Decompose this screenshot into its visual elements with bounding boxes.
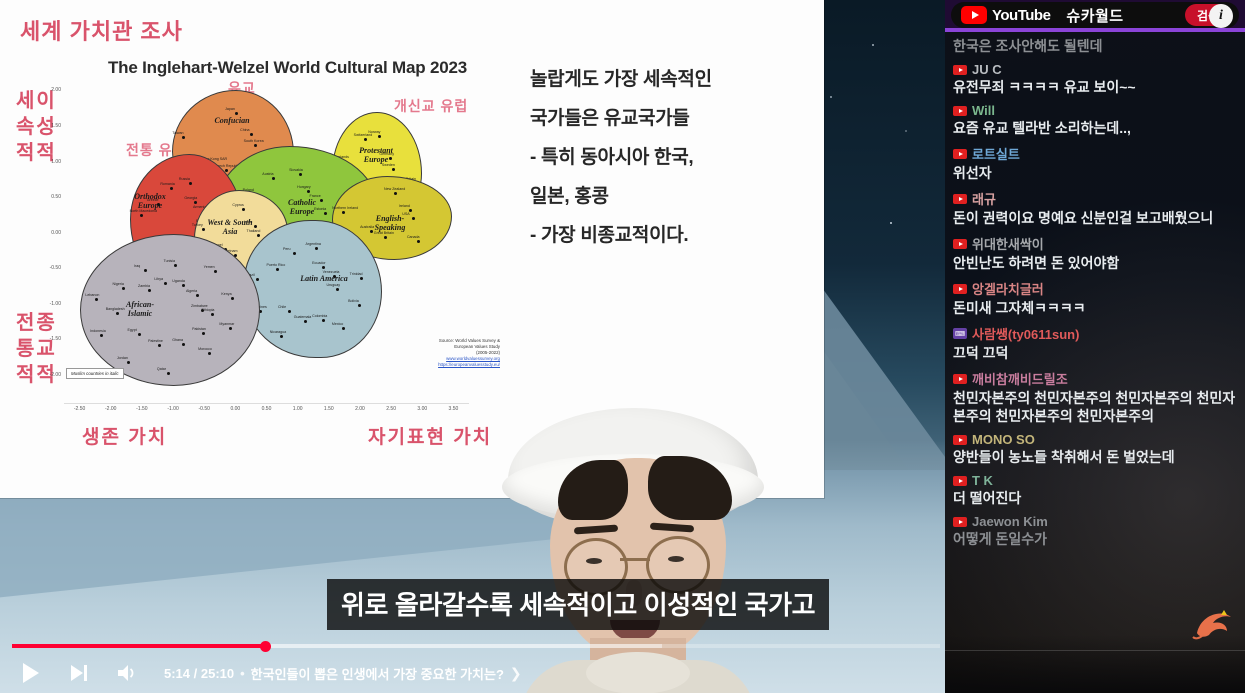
country-dot — [280, 335, 283, 338]
country-dot — [320, 199, 323, 202]
country-label: Hungary — [297, 185, 311, 189]
country-label: USA — [402, 212, 409, 216]
country-dot — [148, 289, 151, 292]
commentary-line: 놀랍게도 가장 세속적인 — [530, 60, 800, 99]
live-chat-sidebar[interactable]: YouTube 슈카월드 검색 i 한국은 조사안해도 될텐데JU C유전무죄 … — [945, 0, 1245, 693]
x-tick: 0.50 — [262, 406, 272, 412]
chat-message[interactable]: JU C유전무죄 ㅋㅋㅋㅋ 유교 보이~~ — [953, 62, 1237, 96]
chevron-right-icon[interactable]: ❯ — [510, 665, 522, 682]
country-label: South Korea — [244, 139, 264, 143]
country-label: Algeria — [186, 289, 197, 293]
commentary-line: 일본, 홍콩 — [530, 177, 800, 216]
chat-header-pill: YouTube 슈카월드 검색 i — [951, 2, 1239, 28]
chat-message[interactable]: ⌨사람쌩(ty0611sun)끄덕 끄덕 — [953, 324, 1237, 362]
chat-message[interactable]: Jaewon Kim어떻게 돈일수가 — [953, 514, 1237, 548]
country-dot — [360, 277, 363, 280]
x-axis-line — [64, 403, 469, 404]
country-label: Nigeria — [112, 282, 123, 286]
youtube-badge-icon — [953, 284, 967, 294]
chat-message-text: 끄덕 끄덕 — [953, 344, 1237, 362]
country-label: Pakistan — [192, 327, 206, 331]
country-dot — [138, 333, 141, 336]
chat-message-text: 요즘 유교 텔라반 소리하는데.., — [953, 119, 1237, 137]
country-label: Canada — [407, 235, 420, 239]
x-axis-label-survival: 생존 가치 — [82, 422, 167, 449]
country-dot — [189, 182, 192, 185]
cluster-label: Protestant Europe — [350, 146, 402, 164]
country-dot — [208, 352, 211, 355]
chat-author-name: 위대한새싹이 — [972, 234, 1044, 253]
country-label: Kenya — [221, 292, 231, 296]
chat-message[interactable]: 깨비참깨비드릴조천민자본주의 천민자본주의 천민자본주의 천민자본주의 천민자본… — [953, 369, 1237, 425]
time-and-title: 5:14 / 25:10 • 한국인들이 뽑은 인생에서 가장 중요한 가치는?… — [164, 664, 522, 683]
chat-author-name: MONO SO — [972, 432, 1035, 447]
country-label: Guatemala — [294, 315, 312, 319]
video-title[interactable]: 한국인들이 뽑은 인생에서 가장 중요한 가치는? — [251, 664, 504, 683]
youtube-badge-icon — [953, 194, 967, 204]
country-dot — [333, 275, 336, 278]
chat-author[interactable]: Jaewon Kim — [953, 514, 1237, 529]
x-tick: 0.00 — [230, 406, 240, 412]
chat-message[interactable]: 한국은 조사안해도 될텐데 — [953, 37, 1237, 55]
cluster-label: English-Speaking — [364, 214, 416, 232]
country-dot — [288, 310, 291, 313]
country-label: Bolivia — [348, 299, 359, 303]
country-label: Greece — [147, 198, 159, 202]
x-tick: 1.50 — [324, 406, 334, 412]
country-dot — [257, 234, 260, 237]
country-dot — [174, 264, 177, 267]
chat-message-text: 위선자 — [953, 164, 1237, 182]
video-area[interactable]: 세계 가치관 조사 The Inglehart-Welzel World Cul… — [0, 0, 945, 693]
commentary-line: 국가들은 유교국가들 — [530, 99, 800, 138]
country-dot — [127, 361, 130, 364]
x-tick: 3.00 — [417, 406, 427, 412]
x-tick: -2.00 — [105, 406, 116, 412]
country-label: Myanmar — [219, 322, 234, 326]
cluster-label: Confucian — [206, 116, 258, 125]
source-note: Source: World Values Survey & European V… — [390, 338, 500, 368]
country-label: Palestine — [148, 339, 163, 343]
country-label: Bangladesh — [106, 307, 125, 311]
separator-dot: • — [240, 666, 245, 681]
youtube-badge-icon — [953, 476, 967, 486]
turtleneck-collar — [586, 652, 690, 693]
country-label: China — [240, 128, 249, 132]
x-tick: -2.50 — [74, 406, 85, 412]
country-label: Uganda — [172, 279, 185, 283]
youtube-badge-icon — [953, 374, 967, 384]
x-tick: 1.00 — [293, 406, 303, 412]
youtube-badge-icon — [953, 517, 967, 527]
volume-button[interactable] — [112, 658, 142, 688]
chat-message-text: 어떻게 돈일수가 — [953, 530, 1237, 548]
country-label: Argentina — [305, 242, 320, 246]
chat-message-text: 돈이 권력이요 명예요 신분인걸 보고배웠으니 — [953, 209, 1237, 227]
glasses-bridge — [620, 558, 650, 561]
chat-message-text: 돈미새 그자체ㅋㅋㅋㅋ — [953, 299, 1237, 317]
progress-played — [12, 644, 265, 648]
country-label: Thailand — [247, 229, 261, 233]
x-axis-label-self-expression: 자기표현 가치 — [368, 422, 492, 449]
youtube-badge-icon — [953, 149, 967, 159]
youtube-badge-icon — [953, 239, 967, 249]
country-dot — [299, 173, 302, 176]
progress-scrubber-handle[interactable] — [260, 641, 271, 652]
country-label: Russia — [179, 177, 190, 181]
slide-commentary: 놀랍게도 가장 세속적인 국가들은 유교국가들 - 특히 동아시아 한국, 일본… — [530, 60, 800, 255]
country-label: Romania — [160, 182, 174, 186]
x-tick: -0.50 — [198, 406, 209, 412]
country-label: Venezuela — [323, 270, 340, 274]
country-dot — [202, 332, 205, 335]
chat-message[interactable]: 위대한새싹이안빈난도 하려면 돈 있어야함 — [953, 234, 1237, 272]
x-tick: -1.50 — [136, 406, 147, 412]
chat-author-name: 깨비참깨비드릴조 — [972, 369, 1068, 388]
country-dot — [116, 312, 119, 315]
player-controls-left: 5:14 / 25:10 • 한국인들이 뽑은 인생에서 가장 중요한 가치는?… — [16, 656, 522, 690]
channel-name: 슈카월드 — [1066, 5, 1123, 26]
country-label: Indonesia — [90, 329, 106, 333]
progress-bar[interactable] — [12, 641, 940, 651]
country-dot — [409, 209, 412, 212]
chat-message[interactable]: MONO SO양반들이 농노들 착취해서 돈 벌었는데 — [953, 432, 1237, 466]
country-label: Cyprus — [232, 203, 243, 207]
chat-message-text: 천민자본주의 천민자본주의 천민자본주의 천민자본주의 천민자본주의 천민자본주… — [953, 389, 1237, 425]
source-link-evs[interactable]: https://europeanvaluesstudy.eu/ — [390, 362, 500, 368]
country-label: Austria — [262, 172, 273, 176]
chat-message-list[interactable]: 한국은 조사안해도 될텐데JU C유전무죄 ㅋㅋㅋㅋ 유교 보이~~Will요즘… — [945, 36, 1245, 676]
country-label: Qatar — [157, 367, 166, 371]
chat-author-name: 로트실트 — [972, 144, 1020, 163]
country-label: Ireland — [399, 204, 410, 208]
chat-author[interactable]: 위대한새싹이 — [953, 234, 1237, 253]
x-tick: 2.50 — [386, 406, 396, 412]
chat-message-text: 안빈난도 하려면 돈 있어야함 — [953, 254, 1237, 272]
chat-message[interactable]: Will요즘 유교 텔라반 소리하는데.., — [953, 103, 1237, 137]
country-label: New Zealand — [384, 187, 405, 191]
country-label: Lebanon — [85, 293, 99, 297]
y-tick: 1.50 — [51, 123, 61, 129]
country-label: Trinidad — [350, 272, 363, 276]
info-icon[interactable]: i — [1209, 4, 1233, 28]
chat-author[interactable]: JU C — [953, 62, 1237, 77]
chat-message-text: 유전무죄 ㅋㅋㅋㅋ 유교 보이~~ — [953, 78, 1237, 96]
country-label: Chile — [278, 305, 286, 309]
chat-author-name: Will — [972, 103, 995, 118]
cluster-blob — [244, 220, 382, 358]
chat-author[interactable]: MONO SO — [953, 432, 1237, 447]
country-label: Taiwan — [172, 131, 183, 135]
country-label: North Macedonia — [130, 209, 157, 213]
country-label: Great Britain — [374, 231, 394, 235]
chat-author[interactable]: 깨비참깨비드릴조 — [953, 369, 1237, 388]
chat-message-text: 양반들이 농노들 착취해서 돈 벌었는데 — [953, 448, 1237, 466]
country-label: Peru — [283, 247, 291, 251]
video-subtitle: 위로 올라갈수록 세속적이고 이성적인 국가고 — [327, 579, 829, 630]
country-label: Libya — [154, 277, 163, 281]
country-dot — [235, 112, 238, 115]
country-label: Egypt — [128, 328, 137, 332]
chat-author-name: 래규 — [972, 189, 996, 208]
country-label: France — [310, 194, 321, 198]
country-label: Morocco — [198, 347, 212, 351]
country-label: Mexico — [332, 322, 343, 326]
chat-author[interactable]: 래규 — [953, 189, 1237, 208]
country-label: Switzerland — [354, 133, 373, 137]
country-label: Turkey — [192, 223, 203, 227]
y-tick: -1.00 — [50, 301, 61, 307]
country-label: Slovakia — [289, 168, 303, 172]
youtube-badge-icon — [953, 106, 967, 116]
legend-note: Muslim countries in italic — [66, 368, 124, 379]
country-label: Japan — [225, 107, 235, 111]
youtube-wordmark: YouTube — [992, 7, 1050, 24]
country-label: Estonia — [314, 207, 326, 211]
chat-message[interactable]: T K더 떨어진다 — [953, 473, 1237, 507]
youtube-play-icon — [961, 6, 987, 24]
chat-header: YouTube 슈카월드 검색 i — [945, 0, 1245, 30]
chat-message-text: 한국은 조사안해도 될텐데 — [953, 37, 1237, 55]
country-label: Uruguay — [326, 283, 340, 287]
youtube-player-page: 세계 가치관 조사 The Inglehart-Welzel World Cul… — [0, 0, 1245, 693]
chat-author[interactable]: 로트실트 — [953, 144, 1237, 163]
country-dot — [293, 252, 296, 255]
y-tick: 0.00 — [51, 230, 61, 236]
commentary-line: - 특히 동아시아 한국, — [530, 138, 800, 177]
country-dot — [202, 228, 205, 231]
country-label: Jordan — [117, 356, 128, 360]
country-dot — [254, 144, 257, 147]
country-label: Ecuador — [312, 261, 325, 265]
country-label: Puerto Rico — [266, 263, 285, 267]
chat-author-name: JU C — [972, 62, 1002, 77]
chart-title: The Inglehart-Welzel World Cultural Map … — [108, 58, 467, 78]
chat-author-name: 사람쌩(ty0611sun) — [972, 324, 1079, 343]
country-dot — [342, 327, 345, 330]
y-tick: -2.00 — [50, 372, 61, 378]
country-dot — [392, 168, 395, 171]
country-dot — [384, 236, 387, 239]
y-tick: 2.00 — [51, 87, 61, 93]
country-label: Nicaragua — [270, 330, 286, 334]
chat-message[interactable]: 로트실트위선자 — [953, 144, 1237, 182]
x-tick: -1.00 — [167, 406, 178, 412]
country-label: Zambia — [138, 284, 150, 288]
country-label: Germany — [379, 152, 394, 156]
chat-author[interactable]: ⌨사람쌩(ty0611sun) — [953, 324, 1237, 343]
country-label: Ghana — [172, 338, 183, 342]
chat-author-name: T K — [972, 473, 993, 488]
next-video-button[interactable] — [64, 658, 94, 688]
country-label: Yemen — [204, 265, 215, 269]
chat-author[interactable]: Will — [953, 103, 1237, 118]
chat-message-text: 더 떨어진다 — [953, 489, 1237, 507]
country-dot — [100, 334, 103, 337]
country-label: Sweden — [382, 163, 395, 167]
chat-author-name: Jaewon Kim — [972, 514, 1048, 529]
country-dot — [304, 320, 307, 323]
commentary-line: - 가장 비종교적이다. — [530, 216, 800, 255]
country-dot — [378, 135, 381, 138]
country-label: Colombia — [312, 314, 327, 318]
youtube-logo: YouTube — [961, 6, 1050, 24]
chat-bottom-fade — [945, 635, 1245, 693]
country-dot — [158, 344, 161, 347]
x-tick: 3.50 — [449, 406, 459, 412]
country-dot — [214, 270, 217, 273]
x-tick: 2.00 — [355, 406, 365, 412]
country-label: Ethiopia — [201, 308, 214, 312]
country-label: India — [244, 220, 252, 224]
y-tick: -0.50 — [50, 265, 61, 271]
country-dot — [167, 372, 170, 375]
youtube-badge-icon — [953, 435, 967, 445]
country-label: Australia — [360, 225, 374, 229]
y-tick: 1.00 — [51, 159, 61, 165]
chat-message[interactable]: 앙겔라치글러돈미새 그자체ㅋㅋㅋㅋ — [953, 279, 1237, 317]
country-label: Northern Ireland — [332, 206, 358, 210]
country-label: Georgia — [184, 196, 197, 200]
chat-message[interactable]: 래규돈이 권력이요 명예요 신분인걸 보고배웠으니 — [953, 189, 1237, 227]
country-label: Iraq — [134, 264, 140, 268]
chat-header-accent-bar — [945, 28, 1245, 32]
chat-author[interactable]: 앙겔라치글러 — [953, 279, 1237, 298]
slide-title: 세계 가치관 조사 — [20, 14, 183, 46]
cluster-label: Latin America — [298, 274, 350, 283]
twitch-badge-icon: ⌨ — [953, 328, 967, 339]
time-display: 5:14 / 25:10 — [164, 666, 234, 681]
country-dot — [140, 214, 143, 217]
chat-author[interactable]: T K — [953, 473, 1237, 488]
country-dot — [322, 266, 325, 269]
chat-author-name: 앙겔라치글러 — [972, 279, 1044, 298]
youtube-badge-icon — [953, 65, 967, 75]
country-label: Tunisia — [164, 259, 175, 263]
y-tick: -1.50 — [50, 336, 61, 342]
y-tick: 0.50 — [51, 194, 61, 200]
play-button[interactable] — [16, 658, 46, 688]
